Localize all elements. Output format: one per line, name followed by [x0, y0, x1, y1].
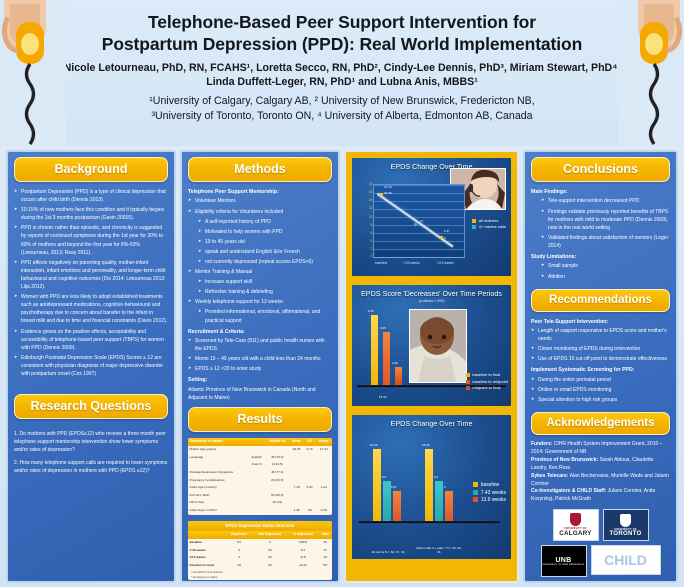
methods-setting-text: Atlantic Province of New Brunswick in Ca…: [188, 386, 332, 402]
list-item: Use of EPDS 10 cut-off point to demonstr…: [531, 355, 670, 363]
poster-body: Background Postpartum Depression (PPD) i…: [0, 146, 684, 587]
peer-support-lead: Peer Tele-Support Intervention:: [531, 318, 670, 326]
cell: Intention to treat: [188, 562, 226, 570]
limitations-list: Small sample Attrition: [541, 262, 670, 280]
bar-g2-final: [445, 491, 453, 521]
ack-label: Funders:: [531, 441, 552, 447]
cell: 0-33: [315, 507, 332, 515]
ytick: 16: [369, 191, 373, 194]
methods-content: Telephone Peer Support Mentorship: Volun…: [188, 188, 332, 402]
affiliations: ¹University of Calgary, Calgary AB, ² Un…: [72, 94, 612, 125]
ack-label: Co-Investigators & CHILD Staff:: [531, 488, 606, 494]
section-heading-research-questions: Research Questions: [14, 394, 168, 419]
affiliation-line-2: ³University of Toronto, Toronto ON, ⁴ Un…: [72, 109, 612, 124]
table-row: baseline 64 0 100% 64: [188, 539, 332, 547]
cell: [304, 500, 316, 508]
affiliation-line-1: ¹University of Calgary, Calgary AB, ² Un…: [72, 94, 612, 109]
chart-3-xcat-0: All moms N = 64, 37, 34: [365, 551, 411, 555]
cell: Full Term Birth: [188, 492, 248, 500]
cell: 34: [252, 547, 287, 555]
legend-swatch-icon: [466, 386, 470, 390]
legend-label: all mothers: [479, 218, 499, 223]
list-item: Moms 15 – 45 years old with a child less…: [188, 355, 332, 363]
cell: Language: [188, 454, 248, 462]
table-row: Prenatal Depression Symptoms 48 (77.4): [188, 469, 332, 477]
cell: 17-44: [315, 446, 332, 454]
col-description: Description of sample: [188, 438, 248, 446]
cell: 9 (14.5): [265, 461, 289, 469]
left-phone-hand-image: [0, 0, 66, 146]
bar-g2-baseline: [425, 449, 433, 521]
cell: [248, 469, 265, 477]
ack-entry: Sykes Telecare: Alan Bechervaise, Muriel…: [531, 473, 670, 489]
list-item: EPDS ≥ 12 <20 to enter study: [188, 365, 332, 373]
cell: NICU Stay: [188, 500, 248, 508]
results-sample-table-wrap: Description of sample N(Valid %) Mean SD…: [188, 438, 332, 515]
table-row: French 9 (14.5): [188, 461, 332, 469]
legend-item: 13.9 weeks: [473, 497, 506, 505]
col-mean: Mean: [289, 438, 303, 446]
list-item: 10-15% of new mothers face this conditio…: [14, 206, 168, 222]
cell: 7.18: [289, 484, 303, 492]
datapoint-baseline-all: [380, 193, 383, 196]
table-row: 7.43 weeks 3 34 8.1 37: [188, 547, 332, 555]
chart-2-title: EPDS Score 'Decreases' Over Time Periods: [357, 289, 506, 298]
chart-3-value-g1-1: 8.5: [382, 475, 386, 479]
cell: [289, 492, 303, 500]
list-item: Provided informational, emotional, affir…: [198, 308, 332, 324]
ytick: 8: [371, 224, 373, 227]
list-item: Validated findings about satisfaction of…: [541, 234, 670, 250]
list-item: Edinburgh Postnatal Depression Scale (EP…: [14, 354, 168, 378]
table-row: NICU Stay 15 (41): [188, 500, 332, 508]
cell: French: [248, 461, 265, 469]
column-conclusions: Conclusions Main Findings: Tele-support …: [523, 150, 678, 583]
author-list-line-1: Nicole Letourneau, PhD, RN, FCAHS¹, Lore…: [24, 61, 660, 76]
page-title: Telephone-Based Peer Support Interventio…: [72, 6, 612, 56]
table-header-row: Description of sample N(Valid %) Mean SD…: [188, 438, 332, 446]
recommendations-content: Peer Tele-Support Intervention: Length o…: [531, 318, 670, 405]
list-item: PPD is chronic rather than episodic, and…: [14, 224, 168, 256]
legend-swatch-icon: [466, 373, 470, 377]
cell: [248, 446, 265, 454]
screening-lead: Implement Systematic Screening for PPD:: [531, 366, 670, 374]
cell: [289, 469, 303, 477]
legend-swatch-icon: [466, 380, 470, 384]
ytick: 0: [371, 255, 373, 258]
cell: 20 (34.5): [265, 477, 289, 485]
list-item: Increase support skill: [198, 278, 332, 286]
chart-1-xcat-0: baseline: [375, 261, 387, 265]
cell: [304, 461, 316, 469]
methods-eligibility-sublist: A self-reported history of PPD Motivated…: [198, 218, 332, 266]
poster-header: Telephone-Based Peer Support Interventio…: [0, 0, 684, 146]
cell: [304, 492, 316, 500]
section-heading-background: Background: [14, 157, 168, 182]
cell: [289, 454, 303, 462]
legend-label: baseline: [481, 482, 500, 488]
logo-university-of-alberta: UNIVERSITY OF ALBERTA: [566, 581, 636, 583]
table-row: Infant Age (months) 7.18 5.44 1-23: [188, 484, 332, 492]
cell: 1-23: [315, 484, 332, 492]
list-item: Length of support responsive to EPDS sco…: [531, 327, 670, 343]
col-n-valid: N(Valid %): [265, 438, 289, 446]
chart-3-value-g2-2: 6: [444, 485, 446, 489]
acknowledgements-content: Funders: CIHR Health System Improvement …: [531, 441, 670, 504]
cell: 53 (85.5): [265, 492, 289, 500]
main-findings-list: Tele-support intervention decreased PPD …: [541, 197, 670, 250]
col-depressed: Depressed: [226, 531, 253, 539]
cell: 6.79: [304, 446, 316, 454]
list-item: Findings validate previously reported be…: [541, 208, 670, 232]
column-charts: EPDS Change Over Time: [344, 150, 519, 583]
chart-2-value-2: 2.29: [392, 361, 398, 365]
cell: [248, 500, 265, 508]
toronto-crest-icon: [620, 514, 631, 527]
bar-midpoint-to-final: [395, 367, 402, 385]
cell: [265, 446, 289, 454]
legend-label: baseline to final: [472, 372, 500, 377]
ack-entry: Co-Investigators & CHILD Staff: Julann C…: [531, 488, 670, 504]
legend-swatch-icon: [473, 482, 478, 487]
col-range: Range: [315, 438, 332, 446]
list-item: Tele-support intervention decreased PPD: [541, 197, 670, 205]
table-row: 13.9 weeks 4 30 11.8 34: [188, 554, 332, 562]
legend-swatch-icon: [472, 219, 476, 223]
cell: 4.46: [289, 507, 303, 515]
results-sample-table: Description of sample N(Valid %) Mean SD…: [188, 438, 332, 515]
cell: Prenatal Depression Symptoms: [188, 469, 248, 477]
cell: 23: [226, 562, 253, 570]
cell: English: [248, 454, 265, 462]
list-item: speak and understand English &/or French: [198, 248, 332, 256]
cell: 5.44: [304, 484, 316, 492]
logo-university-of-toronto: UNIVERSITY OF TORONTO: [603, 509, 649, 541]
section-heading-conclusions: Conclusions: [531, 157, 670, 182]
results-sample-table-body: Mother Age (years) 29.25 6.79 17-44 Lang…: [188, 446, 332, 515]
chart-epds-decreases-bar: EPDS Score 'Decreases' Over Time Periods…: [350, 283, 513, 408]
cell: 34: [319, 554, 332, 562]
cell: 7.43 weeks: [188, 547, 226, 555]
cell: 13.9 weeks: [188, 554, 226, 562]
col-sd: SD: [304, 438, 316, 446]
chart-2-area: 9.19 6.95 2.29 15.33 baseline to final b…: [357, 305, 506, 405]
cell: 100%: [287, 539, 318, 547]
legend-item: 7.43 weeks: [473, 490, 506, 498]
cell: [315, 492, 332, 500]
calgary-crest-icon: [570, 513, 581, 526]
chart-3-value-g1-2: 6.27: [391, 485, 397, 489]
table-header-row: Depressed Not Depressed % depressed tota…: [188, 531, 332, 539]
table-row: Mother Age (years) 29.25 6.79 17-44: [188, 446, 332, 454]
chart-epds-change-scatter: EPDS Change Over Time: [350, 156, 513, 278]
cell: .80: [304, 507, 316, 515]
list-item: Small sample: [541, 262, 670, 270]
depression-table-title: EPDS Depression Rates Outcome: [188, 521, 332, 531]
methods-weekly-list: Weekly telephone support for 12 weeks:: [188, 298, 332, 306]
ack-label: Sykes Telecare:: [531, 473, 568, 479]
legend-swatch-icon: [473, 490, 478, 495]
methods-mentorship-list: Volunteer Mentors Eligibility criteria f…: [188, 197, 332, 215]
list-item: Postpartum Depression (PPD) is a type of…: [14, 188, 168, 204]
cell: Infant Age (months): [188, 484, 248, 492]
cell: Mother Age (years): [188, 446, 248, 454]
list-item: Motivated to help women with PPD: [198, 228, 332, 236]
list-item: Volunteer Mentors: [188, 197, 332, 205]
table-row: Pregnancy Complications 20 (34.5): [188, 477, 332, 485]
cell: baseline: [188, 539, 226, 547]
methods-training-sublist: Increase support skill Refresher trainin…: [198, 278, 332, 296]
results-depression-table-body: baseline 64 0 100% 64 7.43 weeks 3 34 8.…: [188, 539, 332, 570]
title-line-1: Telephone-Based Peer Support Interventio…: [72, 11, 612, 33]
list-item: Special attention to high risk groups: [531, 396, 670, 404]
cell: [289, 500, 303, 508]
cell: 44.23: [287, 562, 318, 570]
list-item: Refresher training & debriefing: [198, 288, 332, 296]
logo-line-2: UNB: [555, 557, 571, 564]
chart-3-area: 15.40 8.5 6.27 All moms N = 64, 37, 34 1…: [357, 429, 506, 557]
cell: [315, 469, 332, 477]
chart-1-label-0: 15.40: [384, 185, 392, 189]
chart-3-xcat-1: Moms with 4 + calls * N = 32, 32, 31: [415, 547, 463, 555]
ytick: 12: [369, 207, 373, 210]
cell: 29.25: [289, 446, 303, 454]
depression-table-note-2: * All assigned a relative: [188, 575, 332, 580]
chart-1-label-1: 15.36: [384, 191, 392, 195]
results-depression-table-wrap: EPDS Depression Rates Outcome Depressed …: [188, 521, 332, 580]
methods-recruitment-lead: Recruitment & Criteria:: [188, 328, 332, 336]
chart-3-legend: baseline 7.43 weeks 13.9 weeks: [473, 482, 506, 505]
cell: [248, 484, 265, 492]
logo-university-of-calgary: UNIVERSITY OF CALGARY: [553, 509, 599, 541]
ack-entry: Province of New Brunswick: Sarah Aldous,…: [531, 457, 670, 473]
legend-label: 4+ mentor calls: [479, 224, 506, 229]
table-row: Intention to treat 23 30 44.23 52*: [188, 562, 332, 570]
cell: 37: [319, 547, 332, 555]
cell: [304, 454, 316, 462]
cell: 0: [252, 539, 287, 547]
cell: 64: [226, 539, 253, 547]
list-item: PPD affects negatively on parenting qual…: [14, 259, 168, 291]
chart-2-value-1: 6.95: [380, 326, 386, 330]
list-item: Evidence grows on the positive effects, …: [14, 328, 168, 352]
bar-g1-mid: [383, 481, 391, 521]
col-blank: [248, 438, 265, 446]
list-item: Screened by Tele-Care (811) and public h…: [188, 337, 332, 353]
chart-1-label-3: 6.37: [444, 229, 450, 233]
cell: 3: [226, 547, 253, 555]
logo-child: CHILD: [591, 545, 661, 575]
cell: [315, 477, 332, 485]
main-findings-lead: Main Findings:: [531, 188, 670, 196]
logo-line-1: UNIVERSITY OF NEW BRUNSWICK: [542, 564, 584, 566]
col-pct-depressed: % depressed: [287, 531, 318, 539]
list-item: During the entire perinatal period: [531, 376, 670, 384]
logo-unb: UNB UNIVERSITY OF NEW BRUNSWICK: [541, 545, 587, 577]
methods-training-list: Mentor Training & Manual: [188, 268, 332, 276]
bar-g1-final: [393, 491, 401, 521]
bar-g2-mid: [435, 481, 443, 521]
author-list-line-2: Linda Duffett-Leger, RN, PhD¹ and Lubna …: [72, 75, 612, 90]
chart-1-plot: 15.40 15.36 11 6.37 6 18 16 14 12 10 8 6…: [373, 184, 465, 258]
cell: [315, 454, 332, 462]
chart-1-label-4: 6: [444, 236, 446, 240]
methods-recruitment-list: Screened by Tele-Care (811) and public h…: [188, 337, 332, 373]
cell: [289, 477, 303, 485]
datapoint-final-all: [440, 236, 443, 239]
conclusions-content: Main Findings: Tele-support intervention…: [531, 188, 670, 281]
chart-2-legend: baseline to final baseline to midpoint m…: [466, 372, 508, 391]
chart-3-value-g1-0: 15.40: [370, 443, 378, 447]
title-line-2: Postpartum Depression (PPD): Real World …: [72, 33, 612, 55]
ytick: 6: [371, 232, 373, 235]
cell: [248, 492, 265, 500]
list-item: not currently depressed (repeat scores E…: [198, 258, 332, 266]
chart-1-area: 15.40 15.36 11 6.37 6 18 16 14 12 10 8 6…: [357, 172, 506, 272]
cell: Pregnancy Complications: [188, 477, 248, 485]
chart-2-axis-note: 15.33: [379, 395, 387, 399]
legend-swatch-icon: [472, 225, 476, 229]
cell: [188, 461, 248, 469]
ytick: 18: [369, 183, 373, 186]
ack-label: Province of New Brunswick:: [531, 457, 598, 463]
list-item: Closer monitoring of EPDS during interve…: [531, 345, 670, 353]
chart-3-title: EPDS Change Over Time: [357, 419, 506, 428]
legend-label: midpoint to final: [472, 385, 500, 390]
cell: [265, 484, 289, 492]
cell: 48 (79.4): [265, 454, 289, 462]
section-heading-recommendations: Recommendations: [531, 289, 670, 312]
legend-item: midpoint to final: [466, 385, 508, 391]
table-row: Infant Days in NICU 4.46 .80 0-33: [188, 507, 332, 515]
chart-epds-change-grouped-bar: EPDS Change Over Time 15.40 8.5 6.27 All…: [350, 413, 513, 561]
list-item: Eligibility criteria for Volunteers incl…: [188, 208, 332, 216]
bar-g1-baseline: [373, 449, 381, 521]
legend-swatch-icon: [473, 497, 478, 502]
list-item: Women with PPD are less likely to adopt …: [14, 293, 168, 325]
background-bullet-list: Postpartum Depression (PPD) is a type of…: [14, 188, 168, 378]
cell: 15 (41): [265, 500, 289, 508]
table-row: Full Term Birth 53 (85.5): [188, 492, 332, 500]
chart-2-subtitle: (p values <.009): [357, 299, 506, 303]
ack-entry: Funders: CIHR Health System Improvement …: [531, 441, 670, 457]
ytick: 14: [369, 199, 373, 202]
limitations-lead: Study Limitations:: [531, 253, 670, 261]
bar-baseline-to-midpoint: [383, 332, 390, 385]
legend-label: 7.43 weeks: [481, 490, 506, 496]
list-item: Mentor Training & Manual: [188, 268, 332, 276]
cell: [289, 461, 303, 469]
cell: [304, 477, 316, 485]
legend-label: baseline to midpoint: [472, 379, 508, 384]
section-heading-acknowledgements: Acknowledgements: [531, 412, 670, 435]
chart-3-value-g2-0: 15.35: [422, 443, 430, 447]
methods-setting-lead: Setting:: [188, 376, 332, 384]
research-question-2: 2. How many telephone support calls are …: [14, 459, 168, 475]
legend-label: 13.9 weeks: [481, 497, 506, 503]
sponsor-logos: UNIVERSITY OF CALGARY UNIVERSITY OF TORO…: [531, 509, 670, 583]
column-methods-results: Methods Telephone Peer Support Mentorshi…: [180, 150, 340, 583]
table-row: Language English 48 (79.4): [188, 454, 332, 462]
infant-photo: [409, 309, 467, 383]
datapoint-mid: [413, 222, 417, 226]
cell: [248, 477, 265, 485]
results-depression-table: Depressed Not Depressed % depressed tota…: [188, 531, 332, 570]
cell: 11.8: [287, 554, 318, 562]
cell: 64: [319, 539, 332, 547]
logo-line-2: TORONTO: [610, 531, 642, 537]
peer-support-list: Length of support responsive to EPDS sco…: [531, 327, 670, 363]
right-phone-hand-image: [618, 0, 684, 146]
bar-baseline-to-final: [371, 315, 378, 385]
ytick: 2: [371, 248, 373, 251]
logo-line-2: CHILD: [604, 552, 647, 568]
cell: [315, 461, 332, 469]
list-item: Weekly telephone support for 12 weeks:: [188, 298, 332, 306]
cell: [304, 469, 316, 477]
cell: [315, 500, 332, 508]
section-heading-results: Results: [188, 407, 332, 432]
list-item: Online or email EPDS monitoring: [531, 386, 670, 394]
cell: 8.1: [287, 547, 318, 555]
col-not-depressed: Not Depressed: [252, 531, 287, 539]
research-question-1: 1. Do mothers with PPD (EPDS≥12) who rec…: [14, 430, 168, 454]
cell: [248, 507, 265, 515]
chart-3-value-g2-1: 8.4: [434, 475, 438, 479]
ytick: 4: [371, 240, 373, 243]
chart-1-xcat-2: 13.9 weeks: [437, 261, 454, 265]
cell: Infant Days in NICU: [188, 507, 248, 515]
methods-weekly-sublist: Provided informational, emotional, affir…: [198, 308, 332, 324]
legend-item: baseline: [473, 482, 506, 490]
col-total: total: [319, 531, 332, 539]
cell: 52*: [319, 562, 332, 570]
list-item: A self-reported history of PPD: [198, 218, 332, 226]
chart-1-xcat-1: 7.43 weeks: [403, 261, 420, 265]
cell: 4: [226, 554, 253, 562]
section-heading-methods: Methods: [188, 157, 332, 182]
col-period: [188, 531, 226, 539]
chart-1-legend: all mothers 4+ mentor calls: [472, 218, 506, 230]
list-item: 19 to 45 years old: [198, 238, 332, 246]
chart-1-label-2: 11: [420, 219, 423, 223]
cell: 30: [252, 562, 287, 570]
chart-2-value-0: 9.19: [368, 309, 374, 313]
ytick: 10: [369, 216, 373, 219]
screening-list: During the entire perinatal period Onlin…: [531, 376, 670, 404]
list-item: Attrition: [541, 273, 670, 281]
methods-mentorship-lead: Telephone Peer Support Mentorship:: [188, 188, 332, 196]
cell: [265, 507, 289, 515]
cell: 48 (77.4): [265, 469, 289, 477]
column-background: Background Postpartum Depression (PPD) i…: [6, 150, 176, 583]
cell: 30: [252, 554, 287, 562]
legend-item: 4+ mentor calls: [472, 224, 506, 230]
logo-line-2: CALGARY: [559, 530, 591, 537]
